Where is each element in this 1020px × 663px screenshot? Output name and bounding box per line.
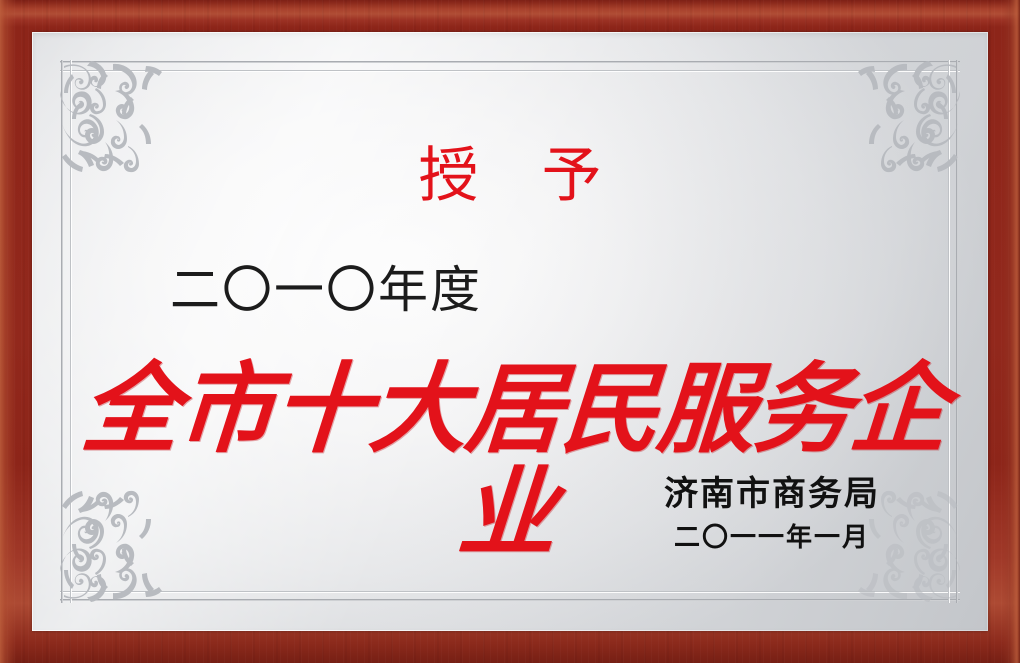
issue-date: 二〇一一年一月 bbox=[664, 524, 880, 553]
issuer-name: 济南市商务局 bbox=[664, 476, 880, 513]
award-plaque: 授 予 二〇一〇年度 全市十大居民服务企业 济南市商务局 二〇一一年一月 bbox=[0, 0, 1020, 663]
metal-panel: 授 予 二〇一〇年度 全市十大居民服务企业 济南市商务局 二〇一一年一月 bbox=[32, 32, 988, 631]
plaque-content: 授 予 二〇一〇年度 全市十大居民服务企业 济南市商务局 二〇一一年一月 bbox=[32, 32, 988, 631]
award-label: 授 予 bbox=[32, 146, 988, 206]
award-year: 二〇一〇年度 bbox=[170, 265, 482, 315]
issuer-block: 济南市商务局 二〇一一年一月 bbox=[664, 476, 880, 553]
